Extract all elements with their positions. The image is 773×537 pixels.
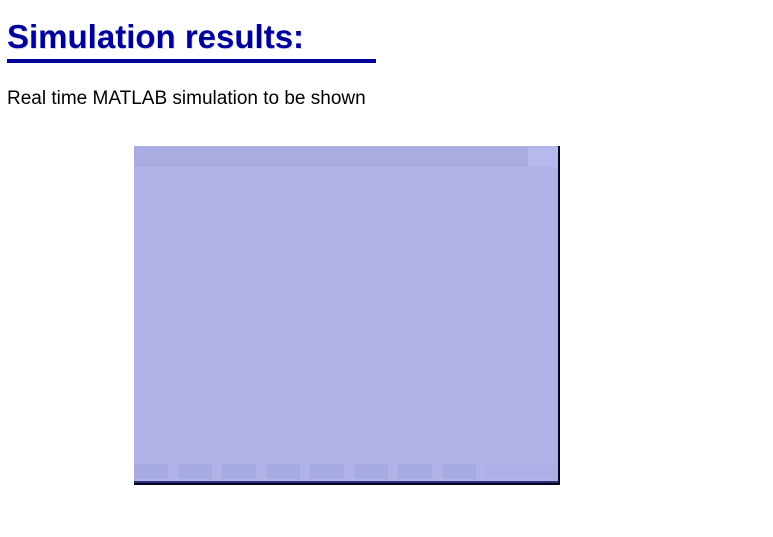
screenshot-topbar-right	[528, 147, 558, 167]
screenshot-topbar	[134, 147, 528, 167]
taskbar-block-4	[266, 464, 300, 479]
screenshot-body	[134, 167, 558, 462]
title-underline	[7, 59, 376, 63]
simulation-screenshot-placeholder	[134, 146, 560, 485]
taskbar-block-2	[178, 464, 212, 479]
taskbar-block-6	[354, 464, 388, 479]
taskbar-block-7	[398, 464, 432, 479]
slide-subtitle: Real time MATLAB simulation to be shown	[7, 87, 366, 111]
page-title: Simulation results:	[7, 17, 304, 57]
taskbar-block-9	[486, 464, 560, 479]
taskbar-block-1	[134, 464, 168, 479]
screenshot-taskbar	[134, 462, 558, 483]
taskbar-block-8	[442, 464, 476, 479]
taskbar-block-3	[222, 464, 256, 479]
taskbar-block-5	[310, 464, 344, 479]
